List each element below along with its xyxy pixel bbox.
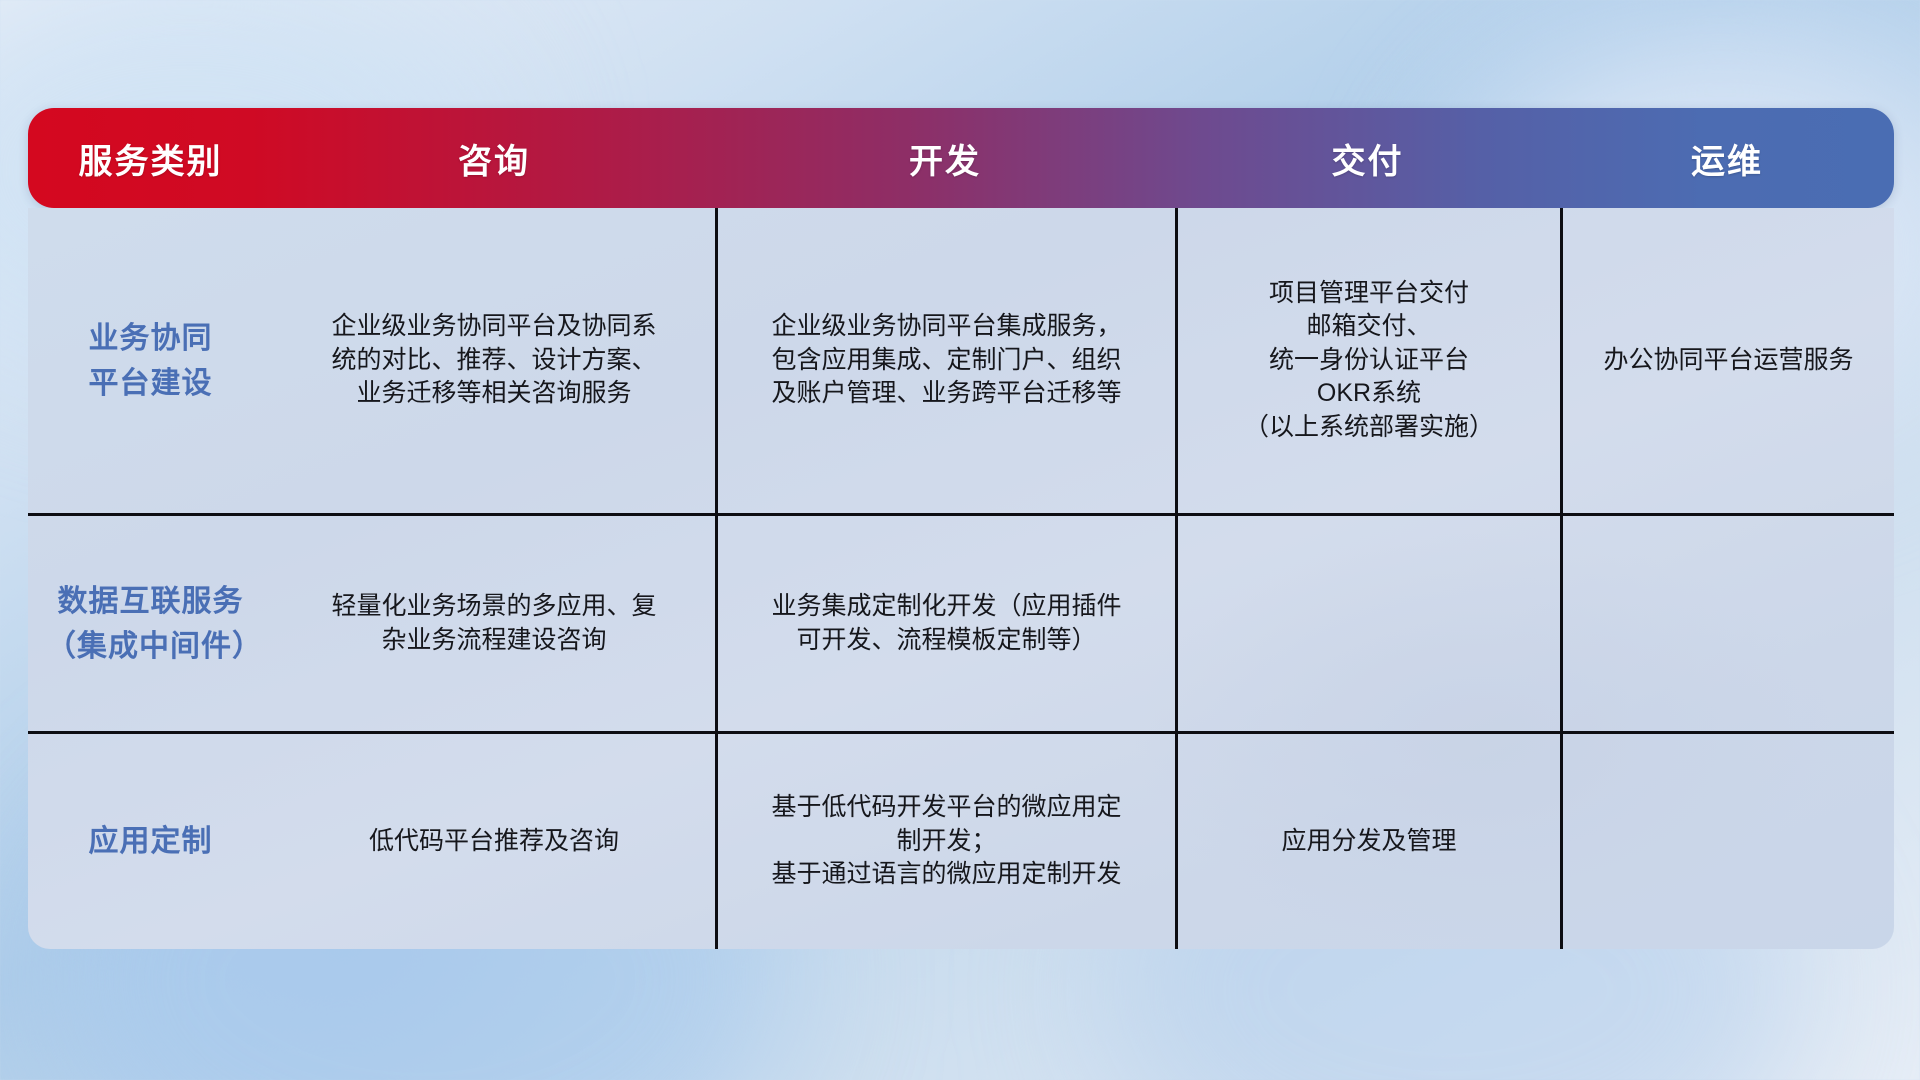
table-row: 数据互联服务 （集成中间件） 轻量化业务场景的多应用、复 杂业务流程建设咨询 业… — [28, 513, 1894, 731]
service-matrix-table: 服务类别 咨询 开发 交付 运维 业务协同 平台建设 企业级业务协同平台及协同系… — [28, 108, 1894, 949]
cell-delivery — [1175, 516, 1560, 731]
cell-consulting: 轻量化业务场景的多应用、复 杂业务流程建设咨询 — [273, 516, 715, 731]
cell-development: 企业级业务协同平台集成服务， 包含应用集成、定制门户、组织 及账户管理、业务跨平… — [715, 208, 1175, 513]
table-row: 应用定制 低代码平台推荐及咨询 基于低代码开发平台的微应用定 制开发； 基于通过… — [28, 731, 1894, 949]
cell-category: 数据互联服务 （集成中间件） — [28, 516, 273, 731]
cell-operations — [1560, 734, 1894, 949]
cell-development: 基于低代码开发平台的微应用定 制开发； 基于通过语言的微应用定制开发 — [715, 734, 1175, 949]
column-header-delivery: 交付 — [1175, 108, 1560, 208]
table-header-row: 服务类别 咨询 开发 交付 运维 — [28, 108, 1894, 208]
cell-consulting: 低代码平台推荐及咨询 — [273, 734, 715, 949]
cell-category: 业务协同 平台建设 — [28, 208, 273, 513]
cell-delivery: 项目管理平台交付 邮箱交付、 统一身份认证平台 OKR系统 （以上系统部署实施） — [1175, 208, 1560, 513]
column-header-operations: 运维 — [1560, 108, 1894, 208]
table-body: 业务协同 平台建设 企业级业务协同平台及协同系 统的对比、推荐、设计方案、 业务… — [28, 208, 1894, 949]
cell-category: 应用定制 — [28, 734, 273, 949]
column-header-development: 开发 — [715, 108, 1175, 208]
cell-development: 业务集成定制化开发（应用插件 可开发、流程模板定制等） — [715, 516, 1175, 731]
cell-operations: 办公协同平台运营服务 — [1560, 208, 1894, 513]
column-header-service-category: 服务类别 — [28, 108, 273, 208]
cell-operations — [1560, 516, 1894, 731]
cell-consulting: 企业级业务协同平台及协同系 统的对比、推荐、设计方案、 业务迁移等相关咨询服务 — [273, 208, 715, 513]
table-row: 业务协同 平台建设 企业级业务协同平台及协同系 统的对比、推荐、设计方案、 业务… — [28, 208, 1894, 513]
cell-delivery: 应用分发及管理 — [1175, 734, 1560, 949]
column-header-consulting: 咨询 — [273, 108, 715, 208]
